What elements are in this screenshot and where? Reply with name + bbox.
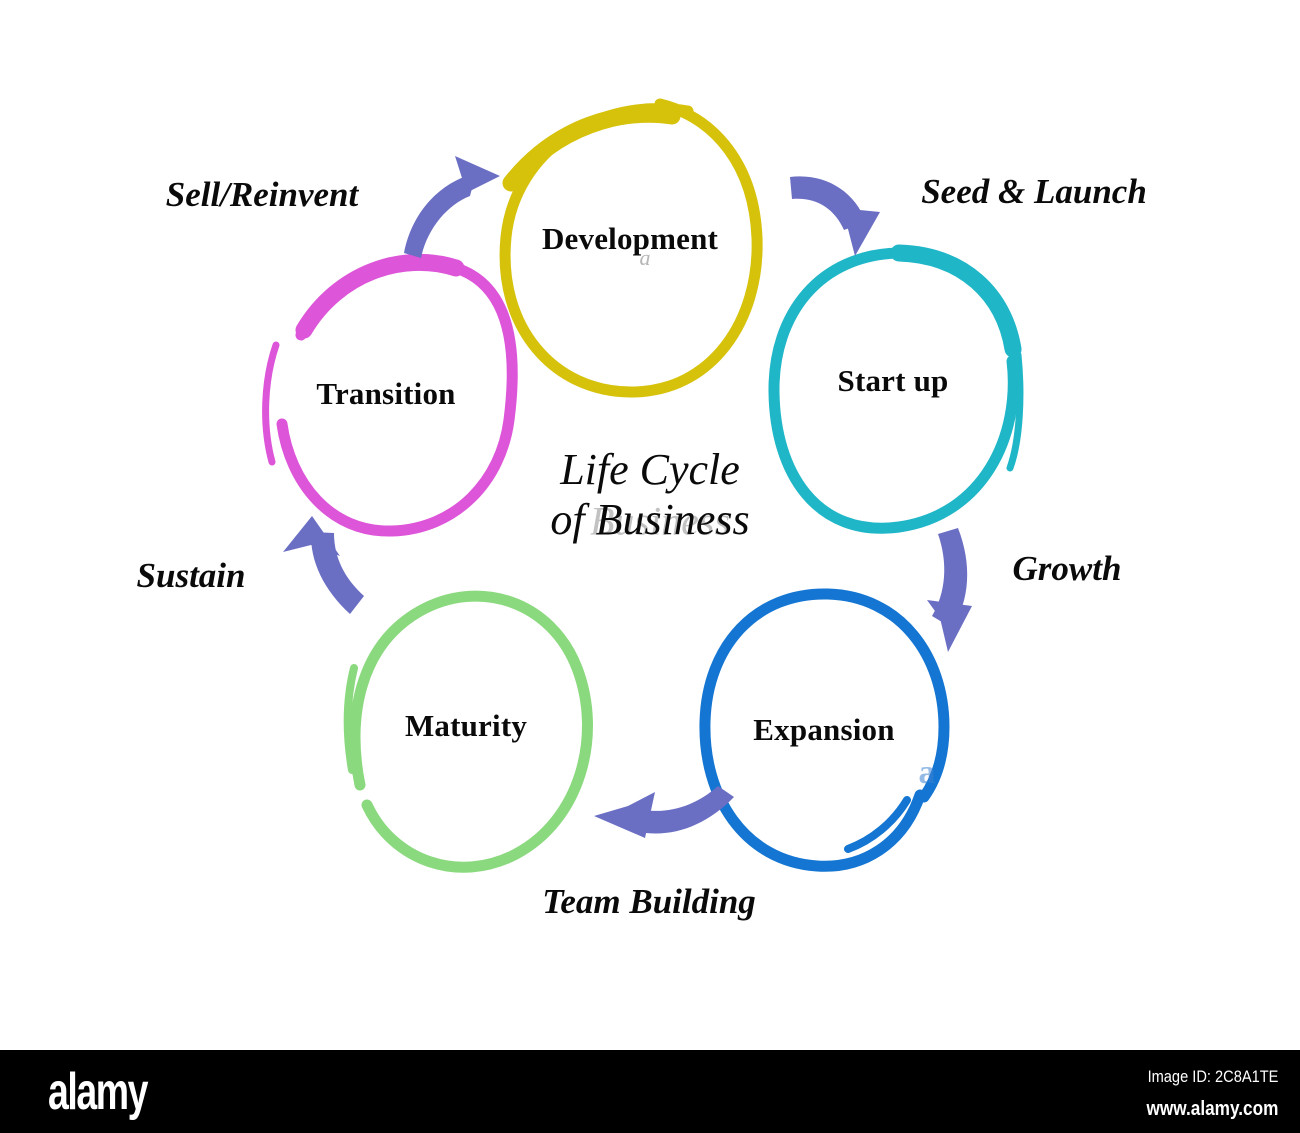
edge-label-sell-reinvent[interactable]: Sell/Reinvent xyxy=(166,175,359,215)
diagram-center-title: Life Cycle of Business xyxy=(550,445,749,545)
node-label-maturity[interactable]: Maturity xyxy=(405,708,527,744)
node-label-expansion[interactable]: Expansion xyxy=(753,712,894,748)
arrow-sell-reinvent xyxy=(404,156,500,258)
edge-label-sustain[interactable]: Sustain xyxy=(137,556,246,596)
alamy-logo: alamy xyxy=(48,1066,147,1118)
node-label-transition[interactable]: Transition xyxy=(316,376,455,412)
center-title-line1: Life Cycle xyxy=(550,445,749,495)
image-id-text: Image ID: 2C8A1TE xyxy=(1146,1064,1278,1090)
edge-label-seed-launch[interactable]: Seed & Launch xyxy=(921,172,1147,212)
arrow-team-building xyxy=(594,786,734,838)
node-label-development[interactable]: Development xyxy=(542,221,718,257)
screenshot-root: Business a a Life Cycle of Business Deve… xyxy=(0,0,1300,1133)
diagram-canvas: Business a a Life Cycle of Business Deve… xyxy=(0,0,1300,1050)
arrow-sustain xyxy=(283,516,364,614)
arrow-seed-launch xyxy=(790,176,880,256)
arrow-growth xyxy=(927,528,972,652)
alamy-url-text[interactable]: www.alamy.com xyxy=(1146,1094,1278,1124)
edge-label-team-building[interactable]: Team Building xyxy=(542,882,756,922)
center-title-line2: of Business xyxy=(550,495,749,545)
alamy-watermark-bar: alamy Image ID: 2C8A1TE www.alamy.com xyxy=(0,1050,1300,1133)
footer-right-block: Image ID: 2C8A1TE www.alamy.com xyxy=(1125,1064,1278,1124)
node-label-startup[interactable]: Start up xyxy=(838,363,949,399)
edge-label-growth[interactable]: Growth xyxy=(1013,549,1122,589)
